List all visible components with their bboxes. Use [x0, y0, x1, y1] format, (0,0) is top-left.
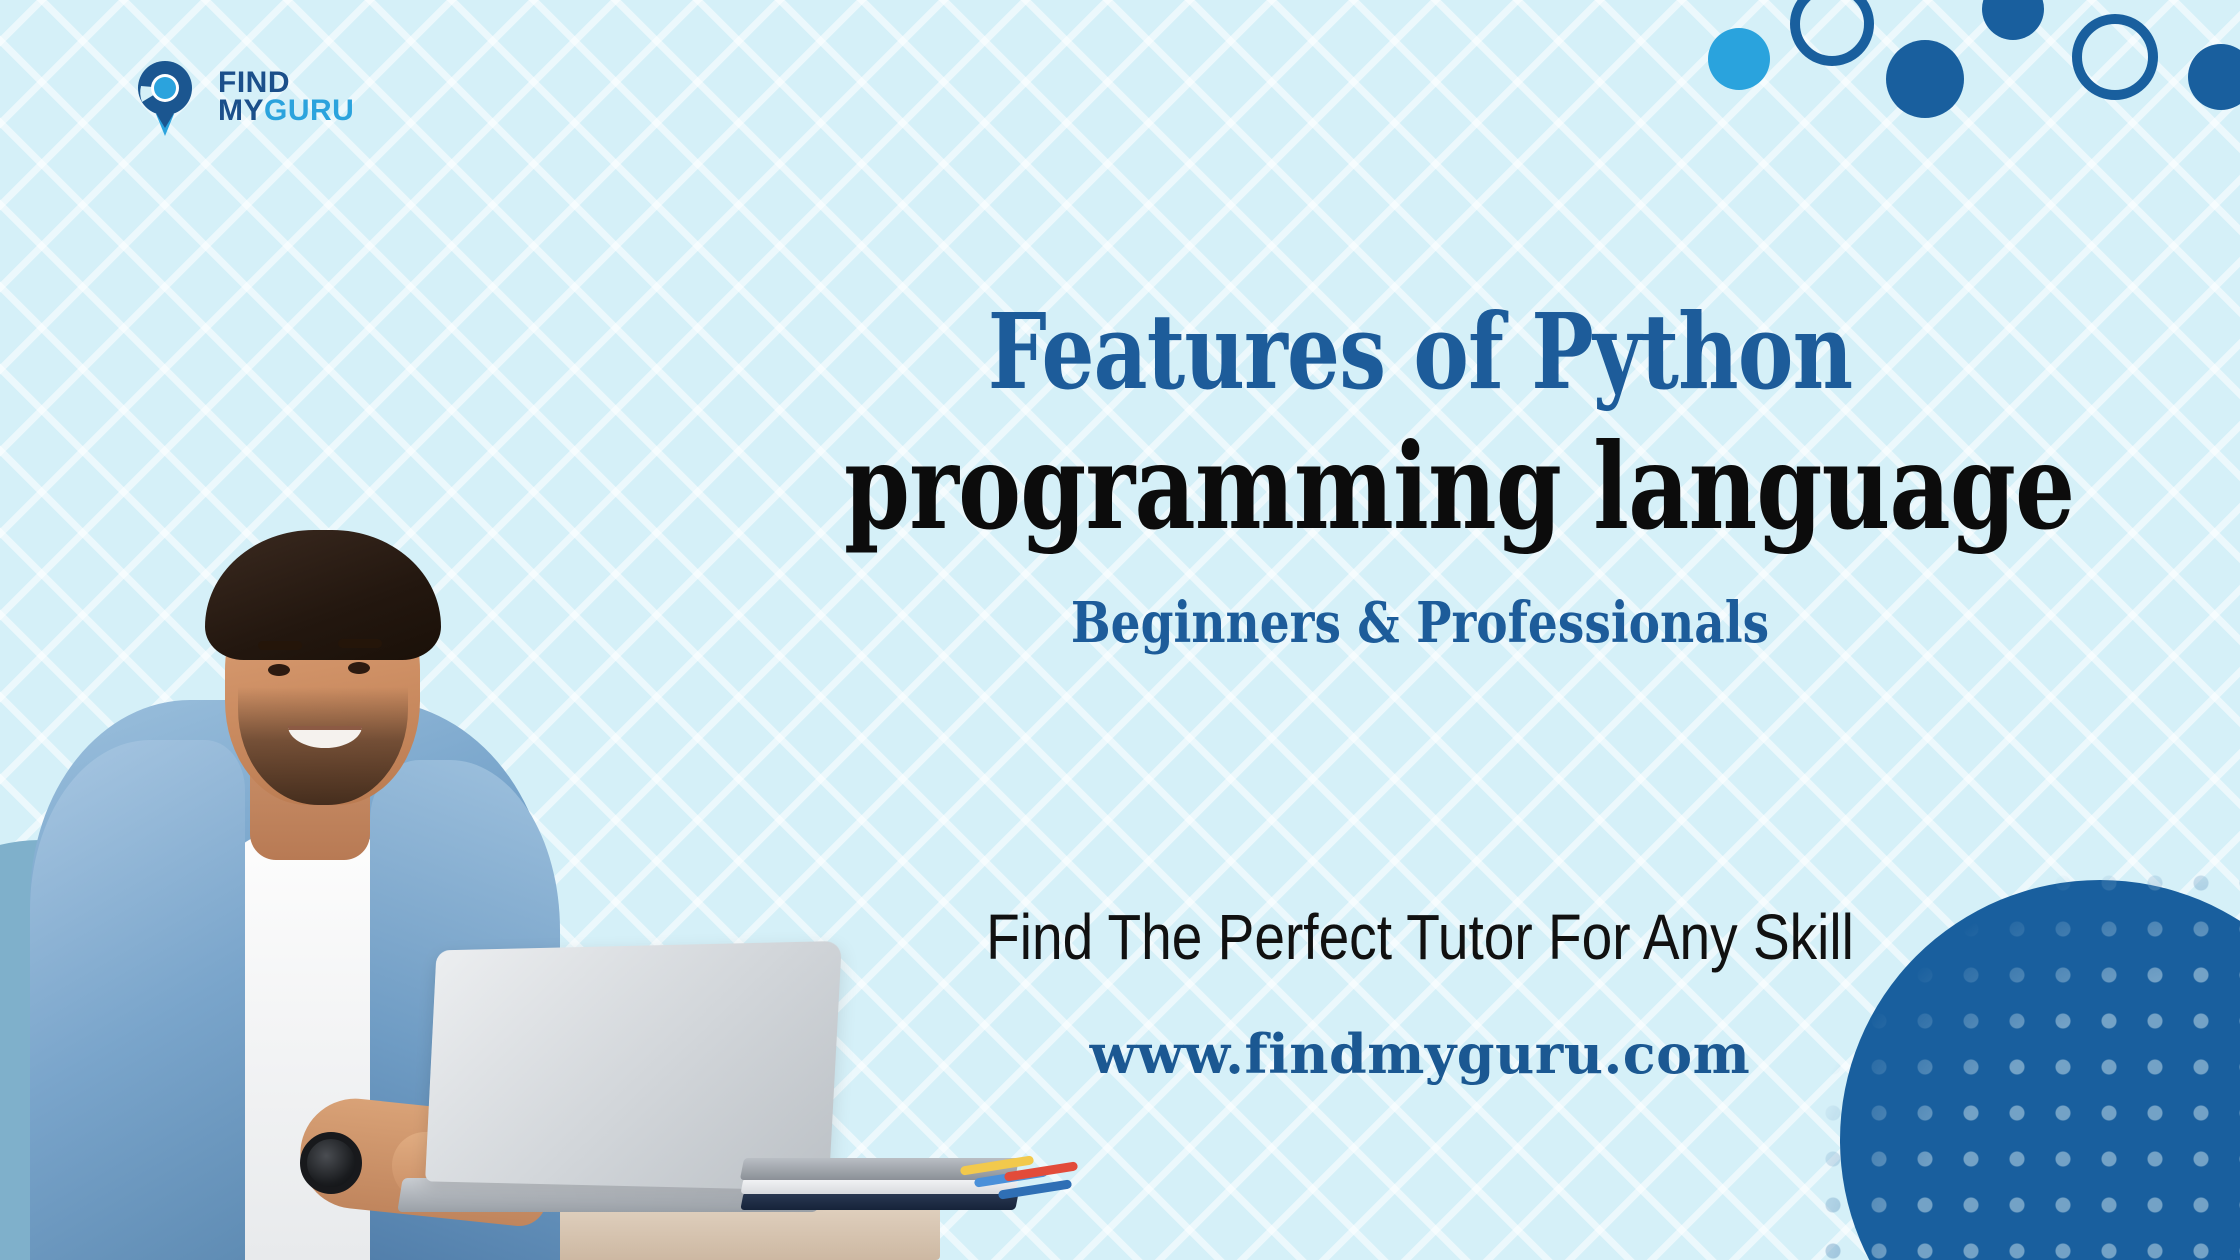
- headline-block: Features of Python programming language …: [700, 300, 2140, 656]
- headline-line-1: Features of Python: [844, 300, 1996, 404]
- tagline: Find The Perfect Tutor For Any Skill: [801, 900, 2039, 974]
- person-hair: [205, 530, 441, 660]
- eyebrow-right: [338, 639, 382, 648]
- circle-dark-filled-1: [1886, 40, 1964, 118]
- website-url[interactable]: www.findmyguru.com: [700, 1022, 2140, 1086]
- brand-name-guru: GURU: [264, 94, 354, 127]
- brand-wordmark: FIND MYGURU: [218, 69, 354, 124]
- headline-subtitle: Beginners & Professionals: [815, 590, 2025, 656]
- circle-outline-2: [2072, 14, 2158, 100]
- denim-shirt-left: [30, 740, 245, 1260]
- wristwatch: [300, 1132, 362, 1194]
- brand-logo[interactable]: FIND MYGURU: [132, 58, 354, 136]
- circle-light-filled: [1708, 28, 1770, 90]
- poster-canvas: FIND MYGURU Features of Python programmi…: [0, 0, 2240, 1260]
- eyebrow-left: [258, 641, 302, 650]
- findmyguru-location-pin-logo: [132, 58, 204, 136]
- brand-name-find: FIND: [218, 69, 354, 97]
- eye-left: [268, 664, 290, 676]
- brand-name-my: MY: [218, 94, 264, 127]
- notebook-stack: [742, 1152, 1042, 1214]
- headline-line-2: programming language: [844, 428, 1996, 546]
- eye-right: [348, 662, 370, 674]
- brand-name-myguru: MYGURU: [218, 97, 354, 125]
- colored-pens: [960, 1156, 1080, 1196]
